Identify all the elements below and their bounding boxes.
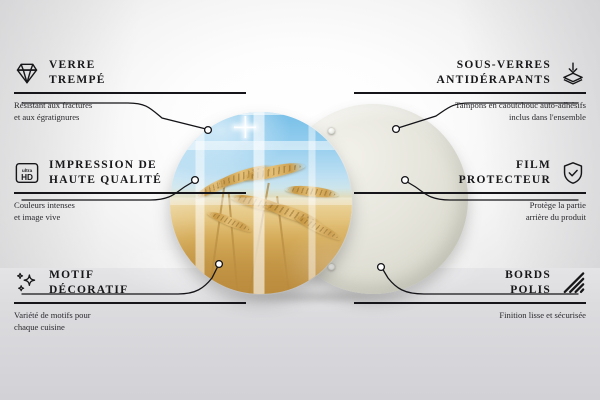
feature-film-protecteur: FILMPROTECTEUR Protège la partiearrière … (354, 158, 586, 223)
feature-bords-polis: BORDSPOLIS Finition lisse et sécurisée (354, 268, 586, 321)
shield-check-icon (560, 160, 586, 186)
feature-header: FILMPROTECTEUR (354, 158, 586, 187)
infographic-canvas: VERRETREMPÉ Résistant aux fractureset au… (0, 0, 600, 400)
feature-header: BORDSPOLIS (354, 268, 586, 297)
feature-title: FILMPROTECTEUR (459, 158, 551, 187)
feature-sous-verres-antiderapants: SOUS-VERRESANTIDÉRAPANTS Tampons en caou… (354, 58, 586, 123)
feature-description: Protège la partiearrière du produit (354, 199, 586, 223)
feature-divider (14, 192, 246, 193)
diagonal-lines-icon (560, 270, 586, 296)
feature-divider (354, 192, 586, 193)
feature-title: MOTIFDÉCORATIF (49, 268, 128, 297)
feature-divider (354, 92, 586, 93)
feature-impression-haute-qualite: ultra HD IMPRESSION DEHAUTE QUALITÉ Coul… (14, 158, 246, 223)
feature-header: MOTIFDÉCORATIF (14, 268, 246, 297)
feature-title: BORDSPOLIS (505, 268, 551, 297)
sparkles-icon (14, 270, 40, 296)
connector-endpoint (216, 261, 223, 268)
feature-header: SOUS-VERRESANTIDÉRAPANTS (354, 58, 586, 87)
press-pad-icon (560, 60, 586, 86)
feature-description: Finition lisse et sécurisée (354, 309, 586, 321)
feature-title: VERRETREMPÉ (49, 58, 106, 87)
feature-header: VERRETREMPÉ (14, 58, 246, 87)
feature-header: ultra HD IMPRESSION DEHAUTE QUALITÉ (14, 158, 246, 187)
feature-divider (354, 302, 586, 303)
feature-divider (14, 302, 246, 303)
feature-description: Résistant aux fractureset aux égratignur… (14, 99, 246, 123)
feature-verre-trempe: VERRETREMPÉ Résistant aux fractureset au… (14, 58, 246, 123)
connector-endpoint (205, 127, 212, 134)
ultra-hd-badge-icon: ultra HD (14, 160, 40, 186)
feature-title: SOUS-VERRESANTIDÉRAPANTS (437, 58, 551, 87)
feature-motif-decoratif: MOTIFDÉCORATIF Variété de motifs pourcha… (14, 268, 246, 333)
feature-divider (14, 92, 246, 93)
feature-description: Tampons en caoutchouc auto-adhésifsinclu… (354, 99, 586, 123)
feature-description: Couleurs intenseset image vive (14, 199, 246, 223)
diamond-icon (14, 60, 40, 86)
connector-endpoint (393, 126, 400, 133)
feature-description: Variété de motifs pourchaque cuisine (14, 309, 246, 333)
svg-text:HD: HD (21, 173, 33, 182)
feature-title: IMPRESSION DEHAUTE QUALITÉ (49, 158, 162, 187)
